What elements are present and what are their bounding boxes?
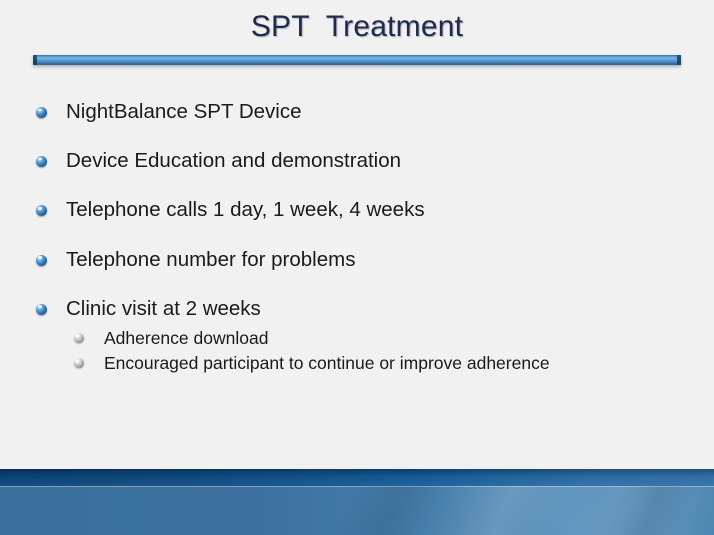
blue-sphere-bullet-icon (36, 205, 47, 216)
footer-band-dark-shading (0, 469, 714, 486)
gray-sphere-bullet-icon (74, 333, 84, 343)
list-item-label: Telephone calls 1 day, 1 week, 4 weeks (66, 198, 425, 221)
list-item-label: Device Education and demonstration (66, 149, 401, 172)
slide-title-area: SPT Treatment (0, 10, 714, 44)
gray-sphere-bullet-icon (74, 358, 84, 368)
list-item: Telephone calls 1 day, 1 week, 4 weeks (0, 198, 714, 222)
footer-band-light (0, 486, 714, 535)
presentation-slide: SPT Treatment NightBalance SPT Device De… (0, 0, 714, 535)
blue-sphere-bullet-icon (36, 107, 47, 118)
title-divider-rule (33, 55, 681, 65)
sub-list-item-label: Adherence download (104, 328, 268, 348)
list-item: Telephone number for problems (0, 248, 714, 272)
sub-list-item: Encouraged participant to continue or im… (66, 352, 604, 374)
list-item: NightBalance SPT Device (0, 100, 714, 124)
blue-sphere-bullet-icon (36, 156, 47, 167)
page-title: SPT Treatment (251, 10, 463, 44)
list-item-label: Telephone number for problems (66, 248, 355, 271)
blue-sphere-bullet-icon (36, 255, 47, 266)
list-item: Clinic visit at 2 weeks Adherence downlo… (0, 297, 714, 375)
sub-list-item-label: Encouraged participant to continue or im… (104, 353, 550, 373)
sub-list-item: Adherence download (66, 327, 604, 349)
bullet-list-level2: Adherence download Encouraged participan… (66, 327, 714, 375)
list-item-label: Clinic visit at 2 weeks (66, 297, 261, 320)
blue-sphere-bullet-icon (36, 304, 47, 315)
footer-decorative-band (0, 469, 714, 535)
footer-band-dark (0, 469, 714, 486)
list-item: Device Education and demonstration (0, 149, 714, 173)
list-item-label: NightBalance SPT Device (66, 100, 302, 123)
slide-body: NightBalance SPT Device Device Education… (0, 100, 714, 400)
bullet-list-level1: NightBalance SPT Device Device Education… (0, 100, 714, 375)
